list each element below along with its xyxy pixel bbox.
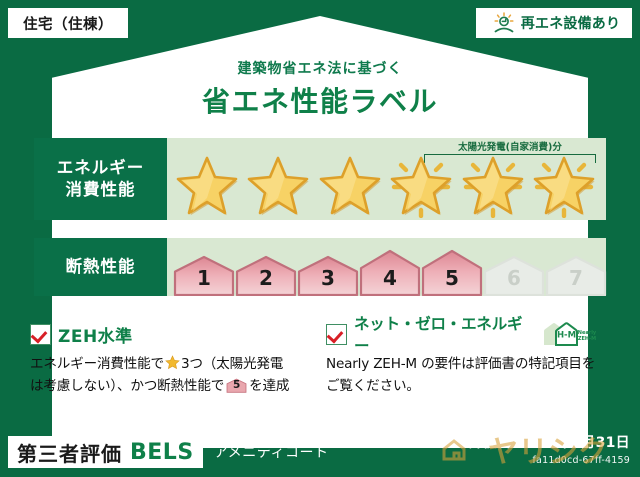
sun-renewable-icon xyxy=(492,12,516,34)
evaluation-info: 評価日 2025年7月31日 fa11d0cd-67ff-4159 xyxy=(469,432,630,466)
insulation-badge-1: 1 xyxy=(173,254,235,296)
criteria-zeh-title: ZEH水準 xyxy=(58,322,133,347)
insulation-badge-number: 3 xyxy=(297,266,359,290)
criteria-zeh-standard: ZEH水準 エネルギー消費性能で3つ（太陽光発電 は考慮しない）、かつ断熱性能で… xyxy=(30,322,302,397)
criteria-zeh-text-4: を達成 xyxy=(249,378,289,394)
bels-en-label: BELS xyxy=(130,440,194,465)
star-solar xyxy=(389,154,453,218)
energy-label-line1: エネルギー xyxy=(57,157,145,179)
star-base xyxy=(175,154,239,218)
insulation-badge-7: 7 xyxy=(545,254,607,296)
criteria-nze-header: ネット・ゼロ・エネルギー H-M Nearly ZEH-M xyxy=(326,322,598,346)
insulation-performance-row: 断熱性能 1 xyxy=(34,238,606,296)
evaluation-date-label: 評価日 xyxy=(469,435,512,451)
check-icon-nze xyxy=(326,324,347,345)
label-title: 省エネ性能ラベル xyxy=(0,80,640,120)
insulation-performance-row-label: 断熱性能 xyxy=(34,238,167,296)
criteria-zeh-text-2: 3つ（太陽光発電 xyxy=(181,356,283,372)
energy-star-rating xyxy=(171,152,600,218)
insulation-performance-row-body: 1 2 xyxy=(167,238,606,296)
zeh-m-house-icon: H-M Nearly ZEH-M xyxy=(542,321,598,347)
renewable-energy-tag: 再エネ設備あり xyxy=(476,8,632,38)
insulation-badge-5: 5 xyxy=(421,248,483,296)
criteria-zeh-text-3: は考慮しない）、かつ断熱性能で xyxy=(30,378,224,394)
insulation-badge-number: 4 xyxy=(359,266,421,290)
label-footer: 第三者評価 BELS アメニティコート 評価日 2025年7月31日 fa11d… xyxy=(0,428,640,477)
evaluation-uid: fa11d0cd-67ff-4159 xyxy=(469,455,630,466)
insulation-badge-2: 2 xyxy=(235,254,297,296)
bels-jp-label: 第三者評価 xyxy=(17,438,122,467)
criteria-nze-body: Nearly ZEH-M の要件は評価書の特記項目をご覧ください。 xyxy=(326,353,598,397)
criteria-nze-title: ネット・ゼロ・エネルギー xyxy=(354,312,535,356)
star-base xyxy=(318,154,382,218)
insulation-label-text: 断熱性能 xyxy=(66,256,136,278)
evaluation-date: 評価日 2025年7月31日 xyxy=(469,432,630,452)
energy-performance-row-body: 太陽光発電(自家消費)分 xyxy=(167,138,606,220)
zeh-m-logo: H-M Nearly ZEH-M xyxy=(542,321,598,347)
insulation-badge-number: 6 xyxy=(483,266,545,290)
insulation-badge-6: 6 xyxy=(483,254,545,296)
insulation-badge-number: 2 xyxy=(235,266,297,290)
insulation-badge-number: 1 xyxy=(173,266,235,290)
svg-text:H-M: H-M xyxy=(557,331,576,341)
insulation-badge-number: 5 xyxy=(421,266,483,290)
inline-badge-number: 5 xyxy=(226,377,247,394)
insulation-badge-number: 7 xyxy=(545,266,607,290)
star-solar xyxy=(532,154,596,218)
insulation-badge-3: 3 xyxy=(297,254,359,296)
bels-badge: 第三者評価 BELS xyxy=(8,436,203,468)
inline-insulation-badge: 5 xyxy=(226,377,247,394)
building-type-label: 住宅（住棟） xyxy=(23,13,113,34)
check-icon-zeh xyxy=(30,324,51,345)
label-subtitle: 建築物省エネ法に基づく xyxy=(0,58,640,78)
evaluation-date-value: 2025年7月31日 xyxy=(517,435,630,451)
criteria-zeh-body: エネルギー消費性能で3つ（太陽光発電 は考慮しない）、かつ断熱性能で5を達成 xyxy=(30,353,302,397)
star-base xyxy=(246,154,310,218)
energy-performance-row: エネルギー 消費性能 太陽光発電(自家消費)分 xyxy=(34,138,606,220)
energy-performance-row-label: エネルギー 消費性能 xyxy=(34,138,167,220)
criteria-net-zero-energy: ネット・ゼロ・エネルギー H-M Nearly ZEH-M Nearly ZEH… xyxy=(326,322,598,397)
insulation-badge-4: 4 xyxy=(359,248,421,296)
solar-caption: 太陽光発電(自家消費)分 xyxy=(422,139,598,153)
energy-label-root: 住宅（住棟） 再エネ設備あり 建築物省エネ法に基づく 省エネ性能ラベル エネルギ… xyxy=(0,0,640,477)
zeh-m-logo-sub2: ZEH-M xyxy=(578,336,596,342)
criteria-zeh-text-1: エネルギー消費性能で xyxy=(30,356,164,372)
insulation-level-badges: 1 2 xyxy=(173,238,598,296)
energy-label-line2: 消費性能 xyxy=(66,179,136,201)
building-type-tag: 住宅（住棟） xyxy=(8,8,128,38)
criteria-zeh-header: ZEH水準 xyxy=(30,322,302,346)
property-name: アメニティコート xyxy=(214,436,328,468)
inline-star-icon xyxy=(165,355,180,370)
star-solar xyxy=(461,154,525,218)
renewable-energy-label: 再エネ設備あり xyxy=(521,13,620,33)
